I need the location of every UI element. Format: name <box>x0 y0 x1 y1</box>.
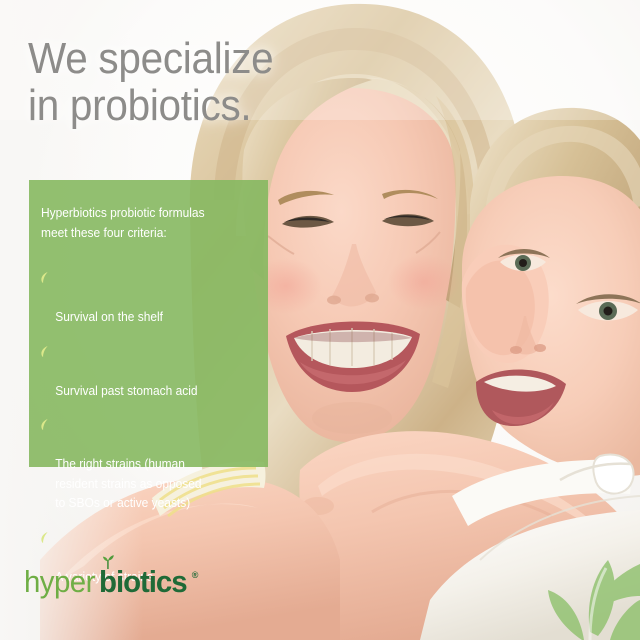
criteria-list: Survival on the shelf Survival past stom… <box>41 269 248 587</box>
list-item-label: Survival on the shelf <box>55 310 163 324</box>
leaf-bullet-icon <box>41 272 49 283</box>
list-item-label: The right strains (human resident strain… <box>55 457 201 510</box>
list-item-label: Survival past stomach acid <box>55 384 197 398</box>
leaf-plant-icon <box>490 520 640 640</box>
list-item: The right strains (human resident strain… <box>41 416 238 514</box>
list-item: Survival on the shelf <box>41 269 238 328</box>
logo-text-biotics: biotics <box>99 566 187 597</box>
leaf-sprout-icon <box>100 553 114 569</box>
leaf-bullet-icon <box>41 419 49 430</box>
leaf-bullet-icon <box>41 532 49 543</box>
logo-text-hyper: hyper <box>24 566 95 597</box>
list-item: Survival past stomach acid <box>41 343 238 402</box>
leaf-bullet-icon <box>41 346 49 357</box>
brand-logo[interactable]: hyper biotics ® <box>24 566 198 597</box>
advertisement-banner: We specialize in probiotics. Hyperbiotic… <box>0 0 640 640</box>
headline: We specialize in probiotics. <box>28 36 273 129</box>
registered-trademark-mark: ® <box>192 571 199 580</box>
criteria-intro-text: Hyperbiotics probiotic formulas meet the… <box>41 204 238 243</box>
criteria-panel: Hyperbiotics probiotic formulas meet the… <box>29 180 268 467</box>
